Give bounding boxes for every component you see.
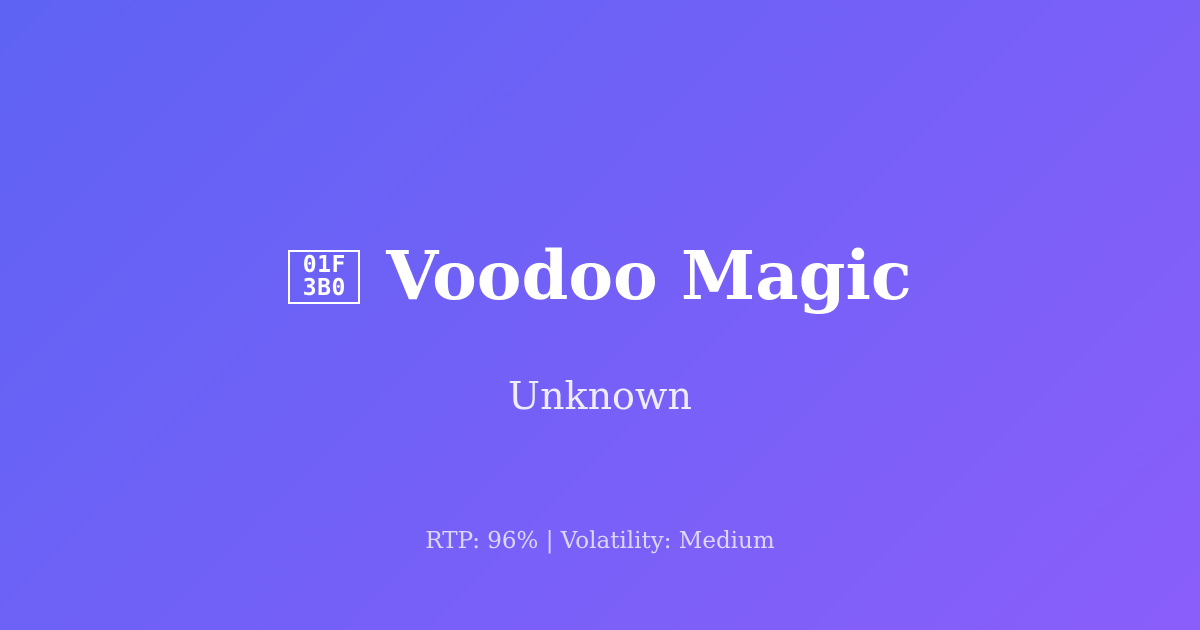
game-meta-line: RTP: 96% | Volatility: Medium xyxy=(0,528,1200,556)
page-title: Voodoo Magic xyxy=(386,241,911,311)
tofu-codepoint-top: 01F xyxy=(303,254,346,277)
hero-block: 01F 3B0 Voodoo Magic Unknown xyxy=(0,232,1200,418)
og-card: 01F 3B0 Voodoo Magic Unknown RTP: 96% | … xyxy=(0,0,1200,630)
provider-name: Unknown xyxy=(508,376,692,418)
title-row: 01F 3B0 Voodoo Magic xyxy=(288,232,911,320)
tofu-codepoint-bottom: 3B0 xyxy=(303,277,346,300)
slot-machine-icon: 01F 3B0 xyxy=(288,250,360,304)
